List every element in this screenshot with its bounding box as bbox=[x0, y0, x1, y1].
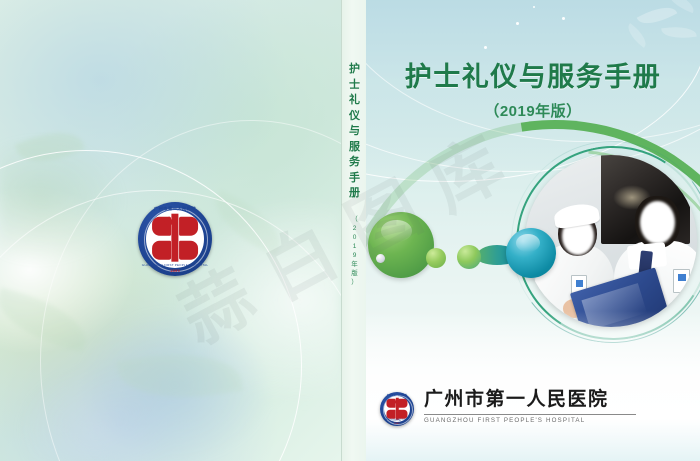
decorative-dot bbox=[533, 6, 535, 8]
back-cover-panel: 广州市第一人民医院 GUANGZHOU FIRST PEOPLE'S HOSPI… bbox=[0, 0, 341, 461]
front-cover-bottom-fade bbox=[366, 311, 700, 461]
brand-name-cn: 广州市第一人民医院 bbox=[424, 388, 674, 412]
photo-doctor-id-badge bbox=[673, 269, 690, 293]
spine-edition-char: 2 bbox=[342, 224, 367, 233]
emblem-red-mark-icon bbox=[386, 399, 407, 419]
spine-edition-char: 9 bbox=[342, 251, 367, 260]
brand-text-block: 广州市第一人民医院 GUANGZHOU FIRST PEOPLE'S HOSPI… bbox=[424, 388, 674, 424]
teal-bubble-large bbox=[506, 228, 556, 278]
green-bubble-medium bbox=[457, 245, 481, 269]
book-spine: 护 士 礼 仪 与 服 务 手 册 （ 2 0 1 9 年 版 ） bbox=[341, 0, 368, 461]
cover-edition: （2019年版） bbox=[366, 100, 700, 121]
spine-title-char: 务 bbox=[342, 155, 367, 171]
decorative-dot bbox=[484, 46, 487, 49]
brand-divider bbox=[424, 414, 636, 415]
hospital-brand-lockup: 广州市第一人民医院 GUANGZHOU FIRST PEOPLE'S HOSPI… bbox=[380, 388, 686, 434]
spine-title-char: 仪 bbox=[342, 109, 367, 125]
spine-title-char: 护 bbox=[342, 62, 367, 78]
emblem-year: 1899 bbox=[380, 423, 414, 425]
green-bubble-large bbox=[368, 212, 434, 278]
hospital-emblem-back: 广州市第一人民医院 GUANGZHOU FIRST PEOPLE'S HOSPI… bbox=[138, 202, 212, 276]
spine-edition-char: 1 bbox=[342, 242, 367, 251]
emblem-text-cn: 广州市第一人民医院 bbox=[380, 394, 414, 397]
spine-title: 护 士 礼 仪 与 服 务 手 册 bbox=[342, 62, 367, 202]
emblem-outer-ring: 广州市第一人民医院 GUANGZHOU FIRST PEOPLE'S HOSPI… bbox=[380, 392, 414, 426]
decorative-dot bbox=[516, 22, 519, 25]
emblem-red-mark-icon bbox=[152, 217, 198, 260]
white-bubble-tiny bbox=[376, 254, 385, 263]
photo-doctor-face bbox=[640, 201, 674, 244]
spine-edition: （ 2 0 1 9 年 版 ） bbox=[342, 215, 367, 287]
spine-edition-char: （ bbox=[342, 215, 367, 224]
spine-title-char: 服 bbox=[342, 140, 367, 156]
emblem-text-en: GUANGZHOU FIRST PEOPLE'S HOSPITAL bbox=[380, 420, 414, 422]
spine-edition-char: ） bbox=[342, 278, 367, 287]
decorative-dot bbox=[562, 17, 565, 20]
green-bubble-small bbox=[426, 248, 446, 268]
spine-title-char: 士 bbox=[342, 78, 367, 94]
spine-title-char: 手 bbox=[342, 171, 367, 187]
spine-edition-char: 0 bbox=[342, 233, 367, 242]
cover-spread: 广州市第一人民医院 GUANGZHOU FIRST PEOPLE'S HOSPI… bbox=[0, 0, 700, 461]
brand-name-en: GUANGZHOU FIRST PEOPLE'S HOSPITAL bbox=[424, 417, 674, 424]
spine-title-char: 册 bbox=[342, 186, 367, 202]
emblem-text-en: GUANGZHOU FIRST PEOPLE'S HOSPITAL bbox=[138, 263, 212, 267]
hospital-emblem-front: 广州市第一人民医院 GUANGZHOU FIRST PEOPLE'S HOSPI… bbox=[380, 392, 414, 426]
spine-title-char: 与 bbox=[342, 124, 367, 140]
front-cover-panel: 护士礼仪与服务手册 （2019年版） bbox=[366, 0, 700, 461]
cover-title: 护士礼仪与服务手册 bbox=[366, 55, 700, 94]
emblem-year: 1899 bbox=[138, 268, 212, 273]
spine-edition-char: 年 bbox=[342, 260, 367, 269]
emblem-text-cn: 广州市第一人民医院 bbox=[138, 206, 212, 212]
spine-edition-char: 版 bbox=[342, 269, 367, 278]
spine-title-char: 礼 bbox=[342, 93, 367, 109]
emblem-outer-ring: 广州市第一人民医院 GUANGZHOU FIRST PEOPLE'S HOSPI… bbox=[138, 202, 212, 276]
